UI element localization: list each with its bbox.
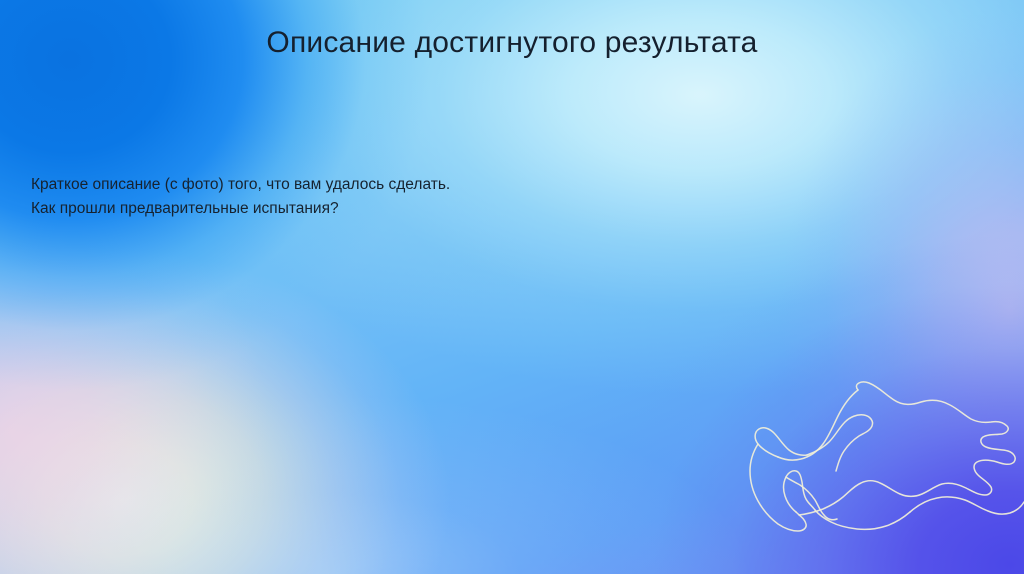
- dove-contour-icon: [745, 378, 1024, 548]
- slide-canvas: Описание достигнутого результата Краткое…: [0, 0, 1024, 574]
- body-line-1: Краткое описание (с фото) того, что вам …: [31, 173, 450, 197]
- slide-body-text: Краткое описание (с фото) того, что вам …: [31, 173, 450, 221]
- body-line-2: Как прошли предварительные испытания?: [31, 197, 450, 221]
- page-title: Описание достигнутого результата: [0, 24, 1024, 62]
